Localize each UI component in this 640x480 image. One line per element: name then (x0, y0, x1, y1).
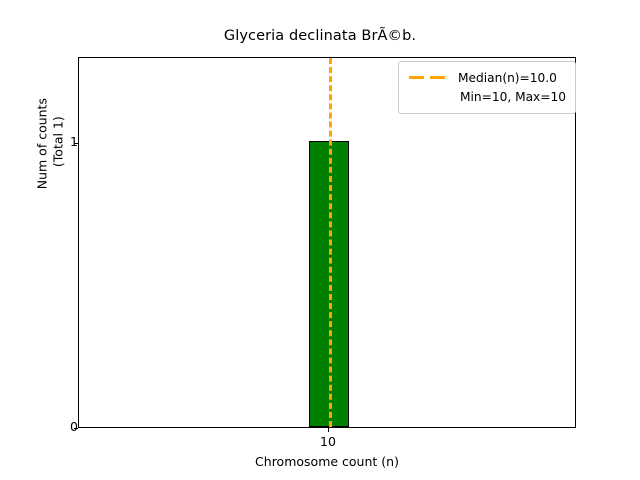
y-axis-label: Num of counts (Total 1) (34, 0, 65, 344)
chart-title: Glyceria declinata BrÃ©b. (0, 28, 640, 44)
x-axis-label: Chromosome count (n) (78, 454, 576, 469)
dashed-line-icon (407, 71, 451, 85)
median-line (329, 58, 332, 427)
legend: Median(n)=10.0 Min=10, Max=10 (398, 61, 576, 114)
legend-label-median: Median(n)=10.0 (458, 71, 557, 85)
ytick-label-0: 0 (18, 421, 78, 434)
xtick-label-10: 10 (298, 434, 358, 449)
chart-figure: Glyceria declinata BrÃ©b. 1 0 10 Chromos… (0, 0, 640, 480)
legend-row-minmax: Min=10, Max=10 (407, 87, 567, 106)
xtick-mark-10 (328, 428, 329, 432)
legend-row-median: Median(n)=10.0 (407, 68, 567, 87)
ytick-mark-0 (74, 428, 78, 429)
legend-label-minmax: Min=10, Max=10 (460, 90, 566, 104)
